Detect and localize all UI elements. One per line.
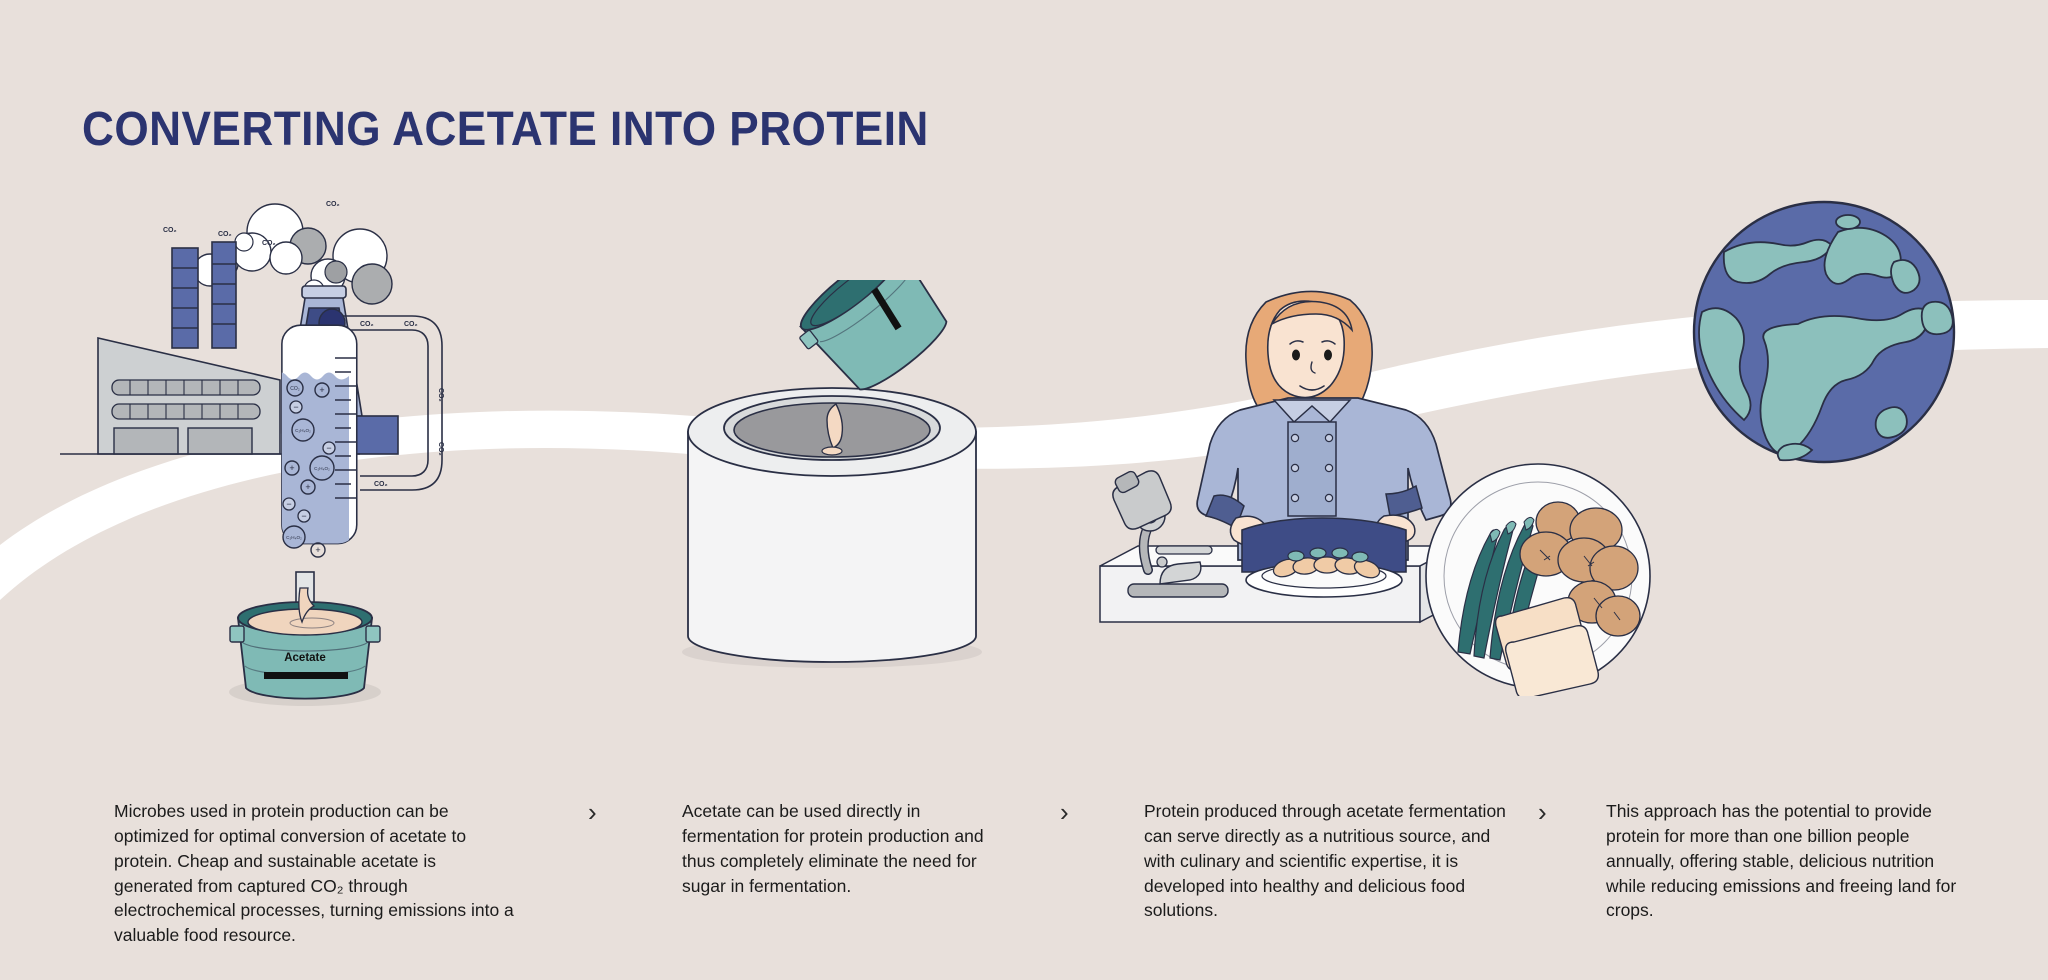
co2-label: CO₂ [163, 227, 177, 234]
co2-label: CO₂ [360, 321, 374, 328]
chevron-3-icon: › [1538, 799, 1547, 825]
caption-step-1: Microbes used in protein production can … [114, 799, 514, 948]
co2-label: CO₂ [437, 442, 444, 456]
infographic-canvas: CONVERTING ACETATE INTO PROTEIN .ln{fill… [0, 0, 2048, 980]
co2-label: CO₂ [437, 388, 444, 402]
food-plate-circle [1418, 456, 1658, 696]
svg-text:−: − [301, 511, 306, 521]
svg-text:+: + [289, 463, 294, 473]
svg-text:+: + [319, 385, 324, 395]
svg-text:C₂H₄O₂: C₂H₄O₂ [295, 428, 311, 433]
svg-text:+: + [315, 545, 320, 555]
co2-label: CO₂ [374, 481, 388, 488]
electrolyzer-tube: CO₂ + − C₂H₄O₂ − C₂H₄O₂ + + − − [275, 325, 357, 614]
scene-fermentation-tank [660, 280, 1010, 680]
caption-step-4: This approach has the potential to provi… [1606, 799, 1966, 923]
earth-globe [1688, 196, 1960, 468]
svg-text:+: + [305, 482, 310, 492]
co2-label: CO₂ [262, 240, 276, 247]
acetate-bucket: Acetate [229, 588, 381, 706]
svg-text:CO₂: CO₂ [290, 386, 300, 392]
chevron-2-icon: › [1060, 799, 1069, 825]
svg-text:−: − [293, 402, 298, 412]
caption-step-3: Protein produced through acetate ferment… [1144, 799, 1524, 923]
bucket-label: Acetate [284, 652, 326, 664]
svg-text:C₂H₄O₂: C₂H₄O₂ [286, 535, 302, 540]
page-title: CONVERTING ACETATE INTO PROTEIN [82, 102, 929, 157]
caption-step-2: Acetate can be used directly in fermenta… [682, 799, 1000, 898]
co2-label: CO₂ [326, 201, 340, 208]
co2-label: CO₂ [404, 321, 418, 328]
co2-label: CO₂ [218, 231, 232, 238]
svg-text:−: − [326, 443, 331, 453]
chevron-1-icon: › [588, 799, 597, 825]
svg-text:−: − [286, 499, 291, 509]
scene-factory-electrolysis: .ln{fill:none;stroke:#2A2F45;stroke-widt… [60, 180, 580, 740]
svg-text:C₂H₄O₂: C₂H₄O₂ [314, 466, 330, 471]
